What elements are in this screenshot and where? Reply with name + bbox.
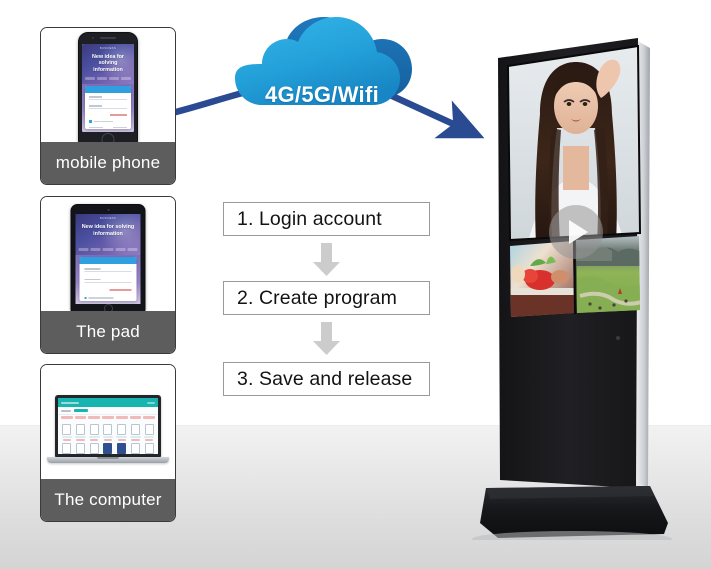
tablet-home-button	[104, 304, 113, 311]
step-box-1[interactable]: 1. Login account	[223, 202, 430, 236]
cloud-graphic: 4G/5G/Wifi	[222, 8, 422, 133]
tablet-screen: BUSINESS New idea for solving informatio…	[76, 214, 141, 304]
dashboard-tile	[88, 443, 100, 454]
dashboard-tile	[61, 443, 73, 454]
login-fields	[79, 264, 136, 296]
app-hero: BUSINESS New idea for solving informatio…	[82, 44, 134, 84]
diagram-canvas: 4G/5G/Wifi BUSINESS New idea for solving…	[0, 0, 711, 569]
app-screen: BUSINESS New idea for solving informatio…	[82, 44, 134, 132]
dashboard-tile	[130, 424, 142, 441]
dashboard-tile	[75, 424, 87, 441]
device-caption-the-pad: The pad	[41, 311, 175, 353]
phone-earpiece	[100, 37, 116, 39]
laptop-base	[47, 457, 169, 463]
app-kicker: BUSINESS	[76, 217, 141, 220]
dashboard-toolbar	[58, 407, 158, 415]
phone-stage: BUSINESS New idea for solving informatio…	[41, 28, 175, 142]
phone-camera	[92, 37, 94, 39]
login-footer-links	[89, 127, 127, 128]
app-screen: BUSINESS New idea for solving informatio…	[76, 214, 141, 304]
app-hero: BUSINESS New idea for solving informatio…	[76, 214, 141, 255]
laptop-lid	[55, 395, 161, 457]
device-caption-the-computer: The computer	[41, 479, 175, 521]
digital-signage-kiosk[interactable]	[468, 18, 683, 540]
step-1-label: 1. Login account	[237, 208, 382, 231]
app-chip-row	[79, 248, 138, 251]
dashboard-tile	[116, 424, 128, 441]
login-card	[79, 257, 136, 301]
phone-screen: BUSINESS New idea for solving informatio…	[82, 44, 134, 132]
dashboard-tile-grid	[58, 422, 158, 454]
play-button-icon[interactable]	[549, 205, 603, 259]
app-body	[82, 84, 134, 132]
device-card-the-pad[interactable]: BUSINESS New idea for solving informatio…	[40, 196, 176, 354]
login-fields	[85, 93, 131, 120]
dashboard-tile	[116, 443, 128, 454]
dashboard-tile	[143, 443, 155, 454]
laptop-screen	[58, 398, 158, 454]
dashboard-screen	[58, 398, 158, 454]
app-chip-row	[85, 77, 132, 80]
app-body	[76, 255, 141, 304]
dashboard-tile	[61, 424, 73, 441]
device-card-the-computer[interactable]: The computer	[40, 364, 176, 522]
step-3-label: 3. Save and release	[237, 368, 412, 391]
login-card-header	[85, 86, 131, 93]
dashboard-tabs	[58, 415, 158, 422]
dashboard-tile	[75, 443, 87, 454]
tablet-graphic: BUSINESS New idea for solving informatio…	[71, 204, 146, 311]
phone-home-button	[102, 133, 115, 142]
dashboard-tile	[88, 424, 100, 441]
device-card-mobile-phone[interactable]: BUSINESS New idea for solving informatio…	[40, 27, 176, 185]
tablet-camera	[107, 209, 109, 211]
dashboard-tile	[102, 443, 114, 454]
step-box-2[interactable]: 2. Create program	[223, 281, 430, 315]
remember-checkbox	[85, 297, 132, 299]
pad-stage: BUSINESS New idea for solving informatio…	[41, 197, 175, 311]
app-title: New idea for solving information	[78, 224, 138, 238]
dashboard-header	[58, 398, 158, 407]
login-card	[85, 86, 131, 129]
step-2-label: 2. Create program	[237, 287, 397, 310]
device-caption-mobile-phone: mobile phone	[41, 142, 175, 184]
step-box-3[interactable]: 3. Save and release	[223, 362, 430, 396]
mobile-phone-graphic: BUSINESS New idea for solving informatio…	[78, 32, 138, 142]
login-card-header	[79, 257, 136, 264]
computer-stage	[41, 365, 175, 479]
app-title: New idea for solving information	[84, 54, 132, 74]
dashboard-tile	[143, 424, 155, 441]
dashboard-tile	[130, 443, 142, 454]
step-arrow-2	[311, 322, 342, 355]
laptop-graphic	[55, 395, 161, 463]
step-arrow-1	[311, 243, 342, 276]
remember-checkbox	[89, 120, 127, 122]
app-kicker: BUSINESS	[82, 47, 134, 50]
dashboard-tile	[102, 424, 114, 441]
